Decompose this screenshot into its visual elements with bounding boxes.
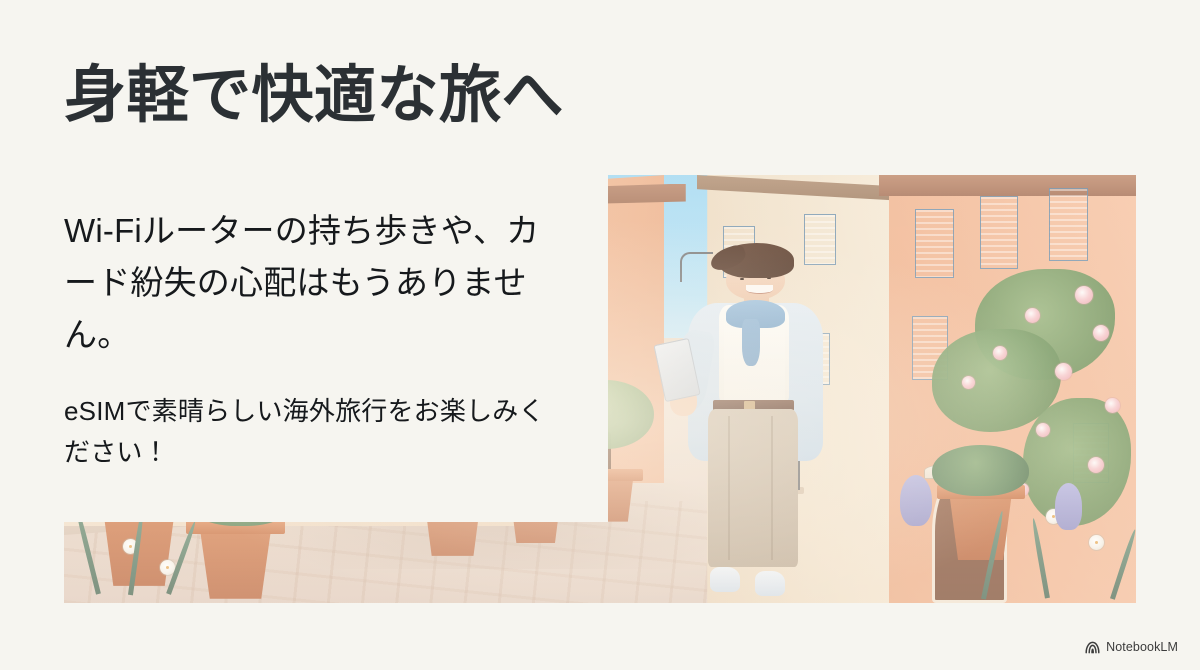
white-flower-5 (1089, 535, 1104, 550)
body-copy: Wi-Fiルーターの持ち歩きや、カード紛失の心配はもうありません。 eSIMで素… (64, 205, 564, 472)
trouser-crease-right (771, 416, 773, 560)
lavender-cluster-2 (1055, 483, 1083, 530)
shoe-right (755, 571, 784, 596)
pot-greenery-6 (932, 445, 1028, 496)
paragraph-lead: Wi-Fiルーターの持ち歩きや、カード紛失の心配はもうありません。 (64, 205, 564, 361)
rose-7 (1105, 398, 1120, 413)
paragraph-sub: eSIMで素晴らしい海外旅行をお楽しみください！ (64, 391, 564, 472)
shoe-left (710, 567, 739, 592)
notebooklm-watermark: NotebookLM (1085, 640, 1178, 654)
notebooklm-spiral-icon (1085, 641, 1100, 654)
shutter-rpeach-3 (1049, 188, 1088, 261)
trouser-crease-left (728, 416, 730, 560)
rose-2 (1025, 308, 1040, 323)
rose-5 (1055, 363, 1072, 380)
page-title: 身軽で快適な旅へ (64, 62, 564, 130)
lavender-cluster-1 (900, 475, 932, 526)
scarf-knot (742, 319, 760, 366)
rose-3 (1093, 325, 1109, 341)
trousers (708, 409, 798, 567)
shutter-rpeach-2 (980, 196, 1019, 269)
shutter-rpeach-1 (915, 209, 954, 277)
building-right-peach-roof (879, 175, 1136, 196)
smile (746, 285, 773, 294)
notebooklm-watermark-label: NotebookLM (1106, 640, 1178, 654)
traveler-figure (643, 243, 868, 603)
slide-canvas: 身軽で快適な旅へ Wi-Fiルーターの持ち歩きや、カード紛失の心配はもうありませ… (0, 0, 1200, 670)
